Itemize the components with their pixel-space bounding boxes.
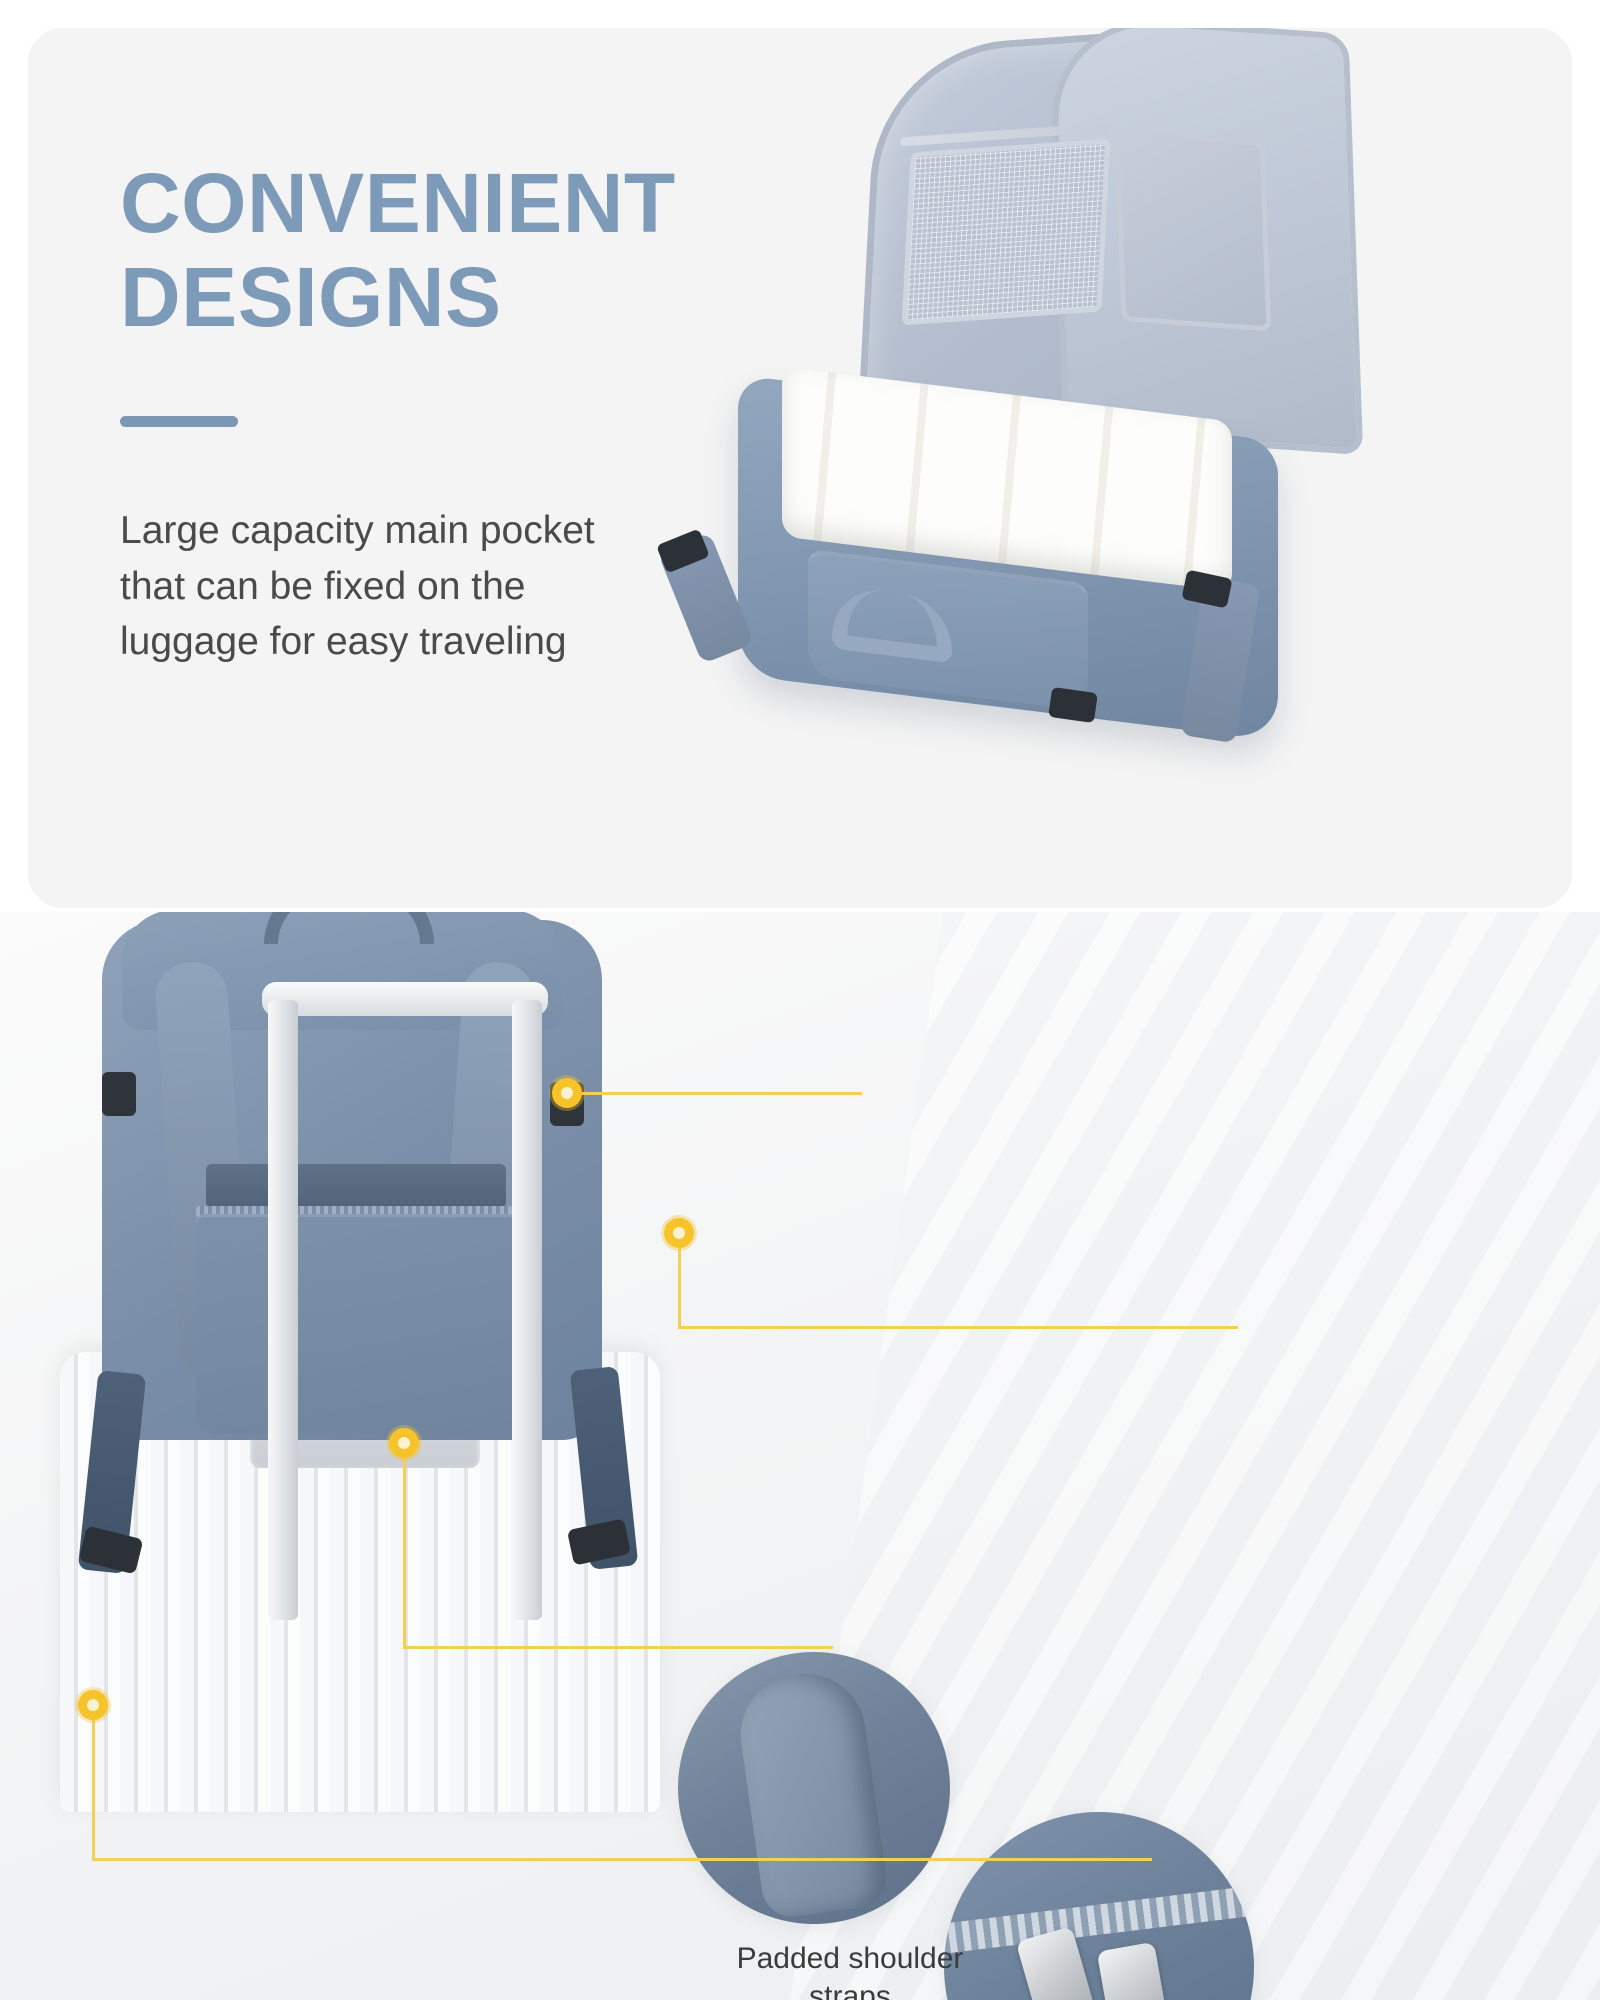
lining-slip-pocket <box>1115 130 1272 331</box>
trolley-sleeve-band <box>206 1164 506 1208</box>
main-product-photo <box>30 912 750 2000</box>
strap-clip-icon <box>102 1072 136 1116</box>
trolley-handle-bar-right <box>512 1000 542 1620</box>
mesh-pocket-icon <box>902 139 1111 326</box>
backpack-lower-panel <box>196 1214 516 1434</box>
open-backpack-photo <box>788 28 1508 908</box>
trolley-handle-bar-left <box>268 1000 298 1620</box>
callout-dot-shoulder-strap-lower[interactable] <box>664 1218 694 1248</box>
title-divider <box>120 416 238 427</box>
hero-text-block: CONVENIENT DESIGNS Large capacity main p… <box>120 156 760 669</box>
zipper-pull-icon <box>1097 1942 1174 2000</box>
callout-line-horizontal-strap <box>678 1326 1238 1329</box>
trolley-handle-crossbar <box>262 982 548 1016</box>
feature-photo-padded-shoulder-straps <box>678 1652 950 1924</box>
hero-description: Large capacity main pocket that can be f… <box>120 503 760 669</box>
callout-line-padded-shoulder-straps <box>582 1092 862 1095</box>
features-section: Padded shoulder straps Double opening an… <box>0 912 1600 2000</box>
callout-dot-padded-shoulder-straps[interactable] <box>552 1078 582 1108</box>
callout-dot-anti-theft-pocket[interactable] <box>389 1428 419 1458</box>
callout-line-vertical-strap <box>678 1248 681 1328</box>
hero-card: CONVENIENT DESIGNS Large capacity main p… <box>28 28 1572 908</box>
callout-line-horizontal-anti-theft <box>403 1646 833 1649</box>
backpack-grab-handle <box>264 912 434 944</box>
callout-line-vertical-anti-theft <box>403 1458 406 1648</box>
callout-line-vertical-buckles <box>92 1720 95 1860</box>
callout-line-horizontal-buckles <box>92 1858 1152 1861</box>
buckle-icon <box>1048 687 1098 723</box>
page-title: CONVENIENT DESIGNS <box>120 156 760 344</box>
feature-label-padded-shoulder-straps: Padded shoulder straps <box>700 1940 1000 2000</box>
zipper-pull-icon <box>1016 1926 1103 2000</box>
callout-dot-adjustable-buckles[interactable] <box>78 1690 108 1720</box>
